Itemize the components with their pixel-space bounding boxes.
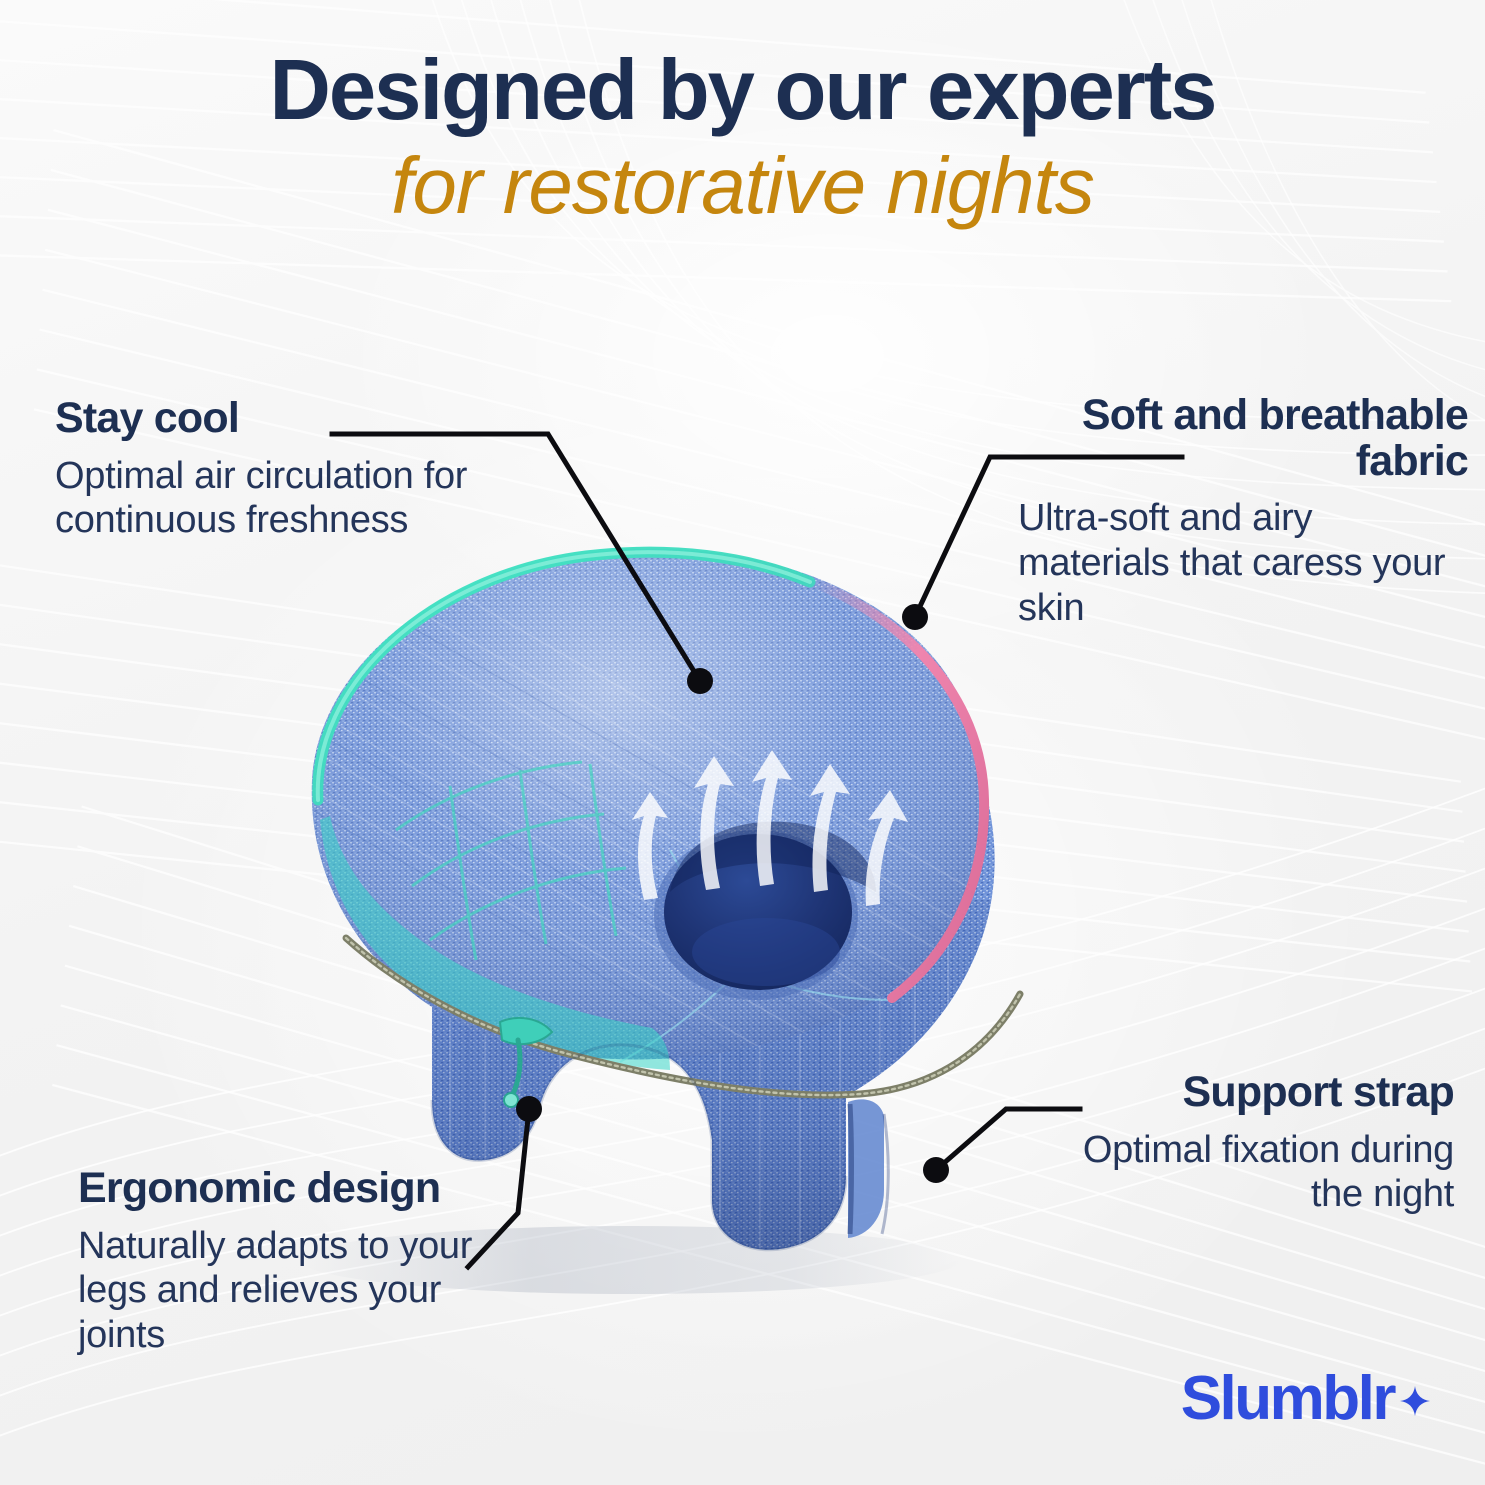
feature-title-soft-fabric: Soft and breathable fabric xyxy=(1018,393,1468,484)
sparkle-icon xyxy=(1400,1386,1430,1416)
page-title-block: Designed by our experts for restorative … xyxy=(0,48,1485,229)
infographic-page: Designed by our experts for restorative … xyxy=(0,0,1485,1485)
pillow-top-surface xyxy=(260,500,1060,1240)
feature-soft-fabric: Soft and breathable fabric Ultra-soft an… xyxy=(1018,393,1468,631)
feature-description-stay-cool: Optimal air circulation for continuous f… xyxy=(55,454,565,544)
page-title-main: Designed by our experts xyxy=(0,48,1485,133)
feature-description-soft-fabric: Ultra-soft and airy materials that cares… xyxy=(1018,496,1468,630)
support-strap xyxy=(848,1099,888,1238)
feature-title-ergonomic: Ergonomic design xyxy=(78,1166,498,1212)
strap-seam xyxy=(850,1104,852,1234)
page-title-subtitle: for restorative nights xyxy=(0,143,1485,229)
feature-stay-cool: Stay cool Optimal air circulation for co… xyxy=(55,396,565,543)
feature-description-ergonomic: Naturally adapts to your legs and reliev… xyxy=(78,1224,498,1358)
feature-support-strap: Support strap Optimal fixation during th… xyxy=(1082,1070,1454,1217)
brand-logo-text: Slumblr xyxy=(1181,1368,1394,1430)
feature-ergonomic: Ergonomic design Naturally adapts to you… xyxy=(78,1166,498,1358)
feature-description-support-strap: Optimal fixation during the night xyxy=(1082,1128,1454,1218)
feature-title-support-strap: Support strap xyxy=(1082,1070,1454,1116)
brand-logo[interactable]: Slumblr xyxy=(1181,1368,1430,1430)
feature-title-stay-cool: Stay cool xyxy=(55,396,565,442)
